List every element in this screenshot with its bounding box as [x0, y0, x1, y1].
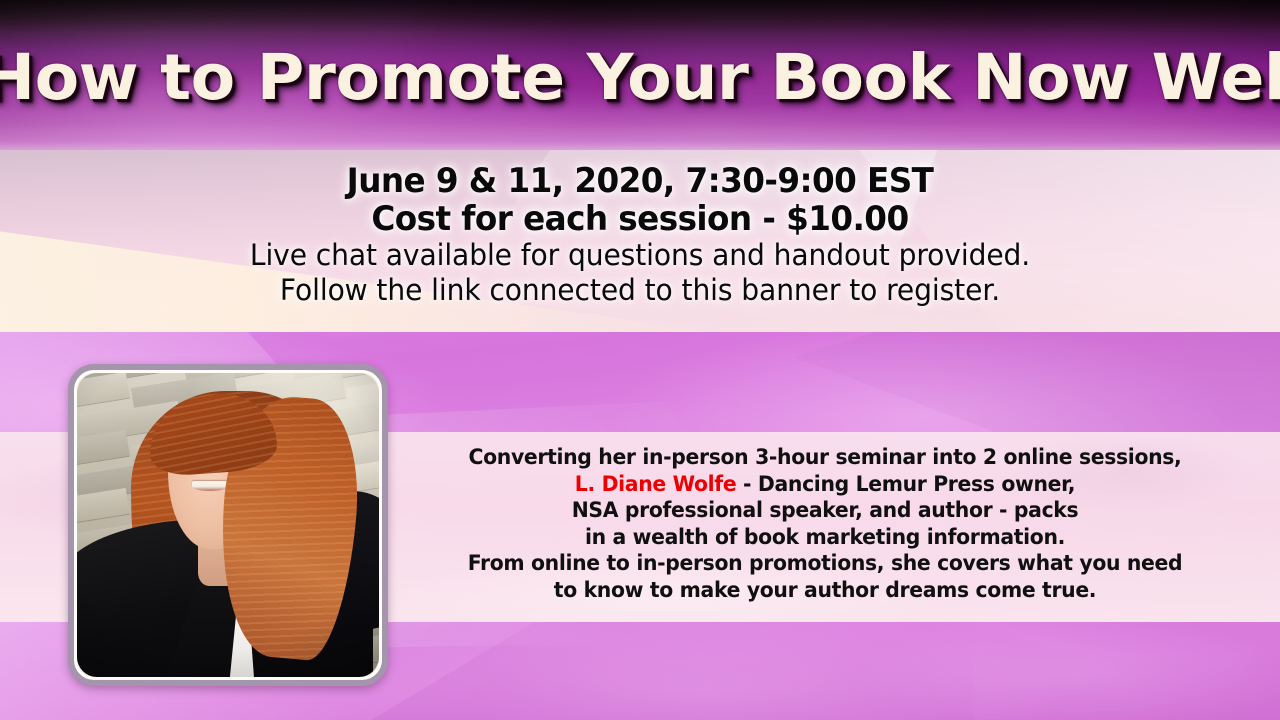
event-register-note: Follow the link connected to this banner…: [19, 273, 1261, 308]
bio-line-4: in a wealth of book marketing informatio…: [432, 524, 1218, 551]
bio-line-2: L. Diane Wolfe - Dancing Lemur Press own…: [432, 471, 1218, 498]
event-details-block: June 9 & 11, 2020, 7:30-9:00 EST Cost fo…: [0, 162, 1280, 308]
event-cost: Cost for each session - $10.00: [26, 200, 1255, 238]
bio-line-3: NSA professional speaker, and author - p…: [432, 497, 1218, 524]
speaker-bio-block: Converting her in-person 3-hour seminar …: [432, 444, 1218, 603]
bio-line-6: to know to make your author dreams come …: [432, 577, 1218, 604]
photo-vignette: [77, 373, 379, 677]
webinar-promo-banner[interactable]: How to Promote Your Book Now Webinar! Ju…: [0, 0, 1280, 720]
bio-line-5: From online to in-person promotions, she…: [432, 550, 1218, 577]
event-chat-note: Live chat available for questions and ha…: [19, 238, 1261, 273]
bio-line-2-rest: - Dancing Lemur Press owner,: [736, 472, 1075, 496]
speaker-photo: [77, 373, 379, 677]
speaker-photo-frame[interactable]: [68, 364, 388, 686]
event-date-time: June 9 & 11, 2020, 7:30-9:00 EST: [26, 162, 1255, 200]
banner-title: How to Promote Your Book Now Webinar!: [0, 46, 1280, 109]
bio-line-1: Converting her in-person 3-hour seminar …: [432, 444, 1218, 471]
speaker-name: L. Diane Wolfe: [575, 472, 737, 496]
